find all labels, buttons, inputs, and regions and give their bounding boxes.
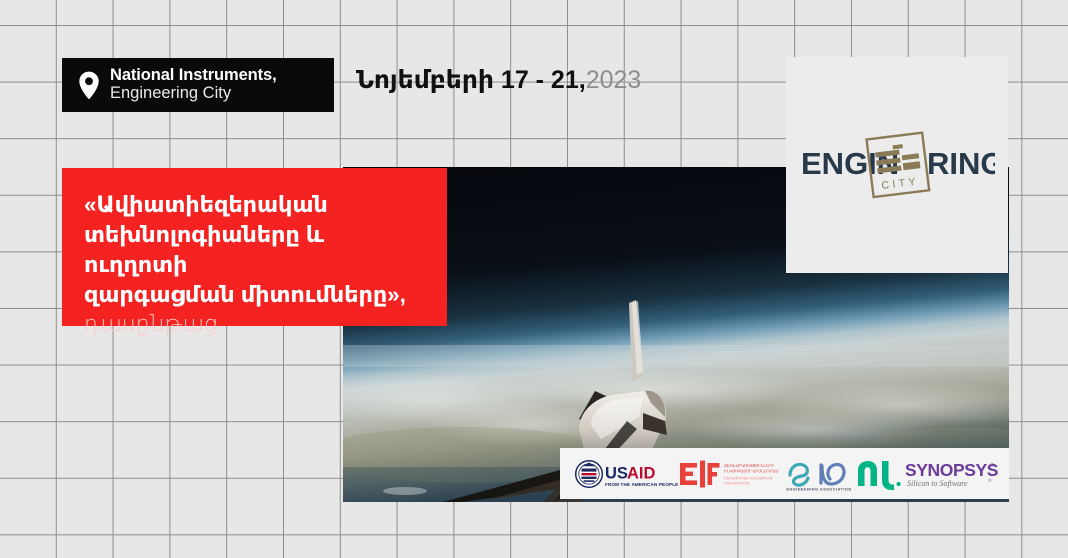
synopsys-trademark-icon: ® bbox=[991, 462, 995, 469]
svg-text:FOUNDATION: FOUNDATION bbox=[724, 480, 750, 485]
usaid-tagline: FROM THE AMERICAN PEOPLE bbox=[605, 481, 678, 486]
usaid-seal-icon bbox=[576, 460, 603, 487]
event-date-main: Նոյեմբերի 17 - 21, bbox=[356, 66, 586, 94]
ea-logo: ENGINEERING ASSOCIATION bbox=[782, 456, 856, 492]
sponsor-eif: ՁԵՌՆԱՐԿՈՒԹՅՈՒՆՆԵՐԻ ԻՆԿՈՒԲԱՏՈՐ ՀԻՄՆԱԴՐԱՄ … bbox=[678, 456, 782, 492]
ni-mark-icon bbox=[858, 461, 901, 490]
course-title: «Ավիատիեզերական տեխնոլոգիաները և ուղղոտի… bbox=[84, 190, 425, 310]
sponsor-usaid: US AID FROM THE AMERICAN PEOPLE bbox=[574, 457, 678, 491]
venue-header-bar: National Instruments, Engineering City bbox=[62, 58, 334, 112]
logo-word-right: RING bbox=[927, 146, 995, 181]
venue-header-text: National Instruments, Engineering City bbox=[110, 67, 277, 103]
venue-name-primary: National Instruments, bbox=[110, 67, 277, 85]
ea-tagline: ENGINEERING ASSOCIATION bbox=[786, 486, 851, 491]
engineering-city-logo: ENGIN CITY RING bbox=[799, 126, 995, 204]
location-pin-icon bbox=[78, 71, 100, 99]
usaid-wordmark-aid: AID bbox=[627, 464, 656, 482]
svg-text:ՁԵՌՆԱՐԿՈՒԹՅՈՒՆՆԵՐԻ: ՁԵՌՆԱՐԿՈՒԹՅՈՒՆՆԵՐԻ bbox=[724, 463, 775, 468]
synopsys-tagline: Silicon to Software bbox=[907, 479, 968, 488]
event-poster: National Instruments, Engineering City Ն… bbox=[0, 0, 1068, 558]
course-title-line-2: տեխնոլոգիաները և ուղղոտի bbox=[84, 220, 425, 280]
course-title-banner: «Ավիատիեզերական տեխնոլոգիաները և ուղղոտի… bbox=[62, 168, 447, 326]
eif-logo: ՁԵՌՆԱՐԿՈՒԹՅՈՒՆՆԵՐԻ ԻՆԿՈՒԲԱՏՈՐ ՀԻՄՆԱԴՐԱՄ … bbox=[678, 456, 782, 492]
sponsor-national-instruments bbox=[856, 458, 904, 490]
event-date: Նոյեմբերի 17 - 21,2023 bbox=[356, 68, 641, 93]
usaid-wordmark-us: US bbox=[605, 464, 628, 482]
course-title-line-3: զարգացման միտումները», bbox=[84, 280, 425, 310]
svg-text:ԻՆԿՈՒԲԱՏՈՐ ՀԻՄՆԱԴՐԱՄ: ԻՆԿՈՒԲԱՏՈՐ ՀԻՄՆԱԴՐԱՄ bbox=[724, 468, 779, 473]
course-subtitle: դասընթաց bbox=[84, 311, 425, 337]
venue-name-secondary: Engineering City bbox=[110, 85, 277, 103]
course-title-line-1: «Ավիատիեզերական bbox=[84, 190, 425, 220]
eif-tagline: ՁԵՌՆԱՐԿՈՒԹՅՈՒՆՆԵՐԻ ԻՆԿՈՒԲԱՏՈՐ ՀԻՄՆԱԴՐԱՄ … bbox=[724, 463, 779, 485]
ea-monogram-icon bbox=[790, 464, 844, 485]
sponsor-bar: US AID FROM THE AMERICAN PEOPLE bbox=[560, 448, 1009, 499]
synopsys-logo: SYNOPSYS ® Silicon to Software ® bbox=[904, 458, 1000, 490]
synopsys-wordmark: SYNOPSYS bbox=[905, 460, 998, 480]
usaid-logo: US AID FROM THE AMERICAN PEOPLE bbox=[574, 457, 678, 491]
sponsor-engineering-association: ENGINEERING ASSOCIATION bbox=[782, 456, 856, 492]
eif-mark-icon bbox=[680, 460, 720, 487]
ni-logo bbox=[856, 458, 904, 490]
sponsor-synopsys: SYNOPSYS ® Silicon to Software ® bbox=[904, 458, 1000, 490]
event-date-year: 2023 bbox=[586, 66, 642, 94]
engineering-city-logo-card: ENGIN CITY RING bbox=[786, 57, 1008, 273]
